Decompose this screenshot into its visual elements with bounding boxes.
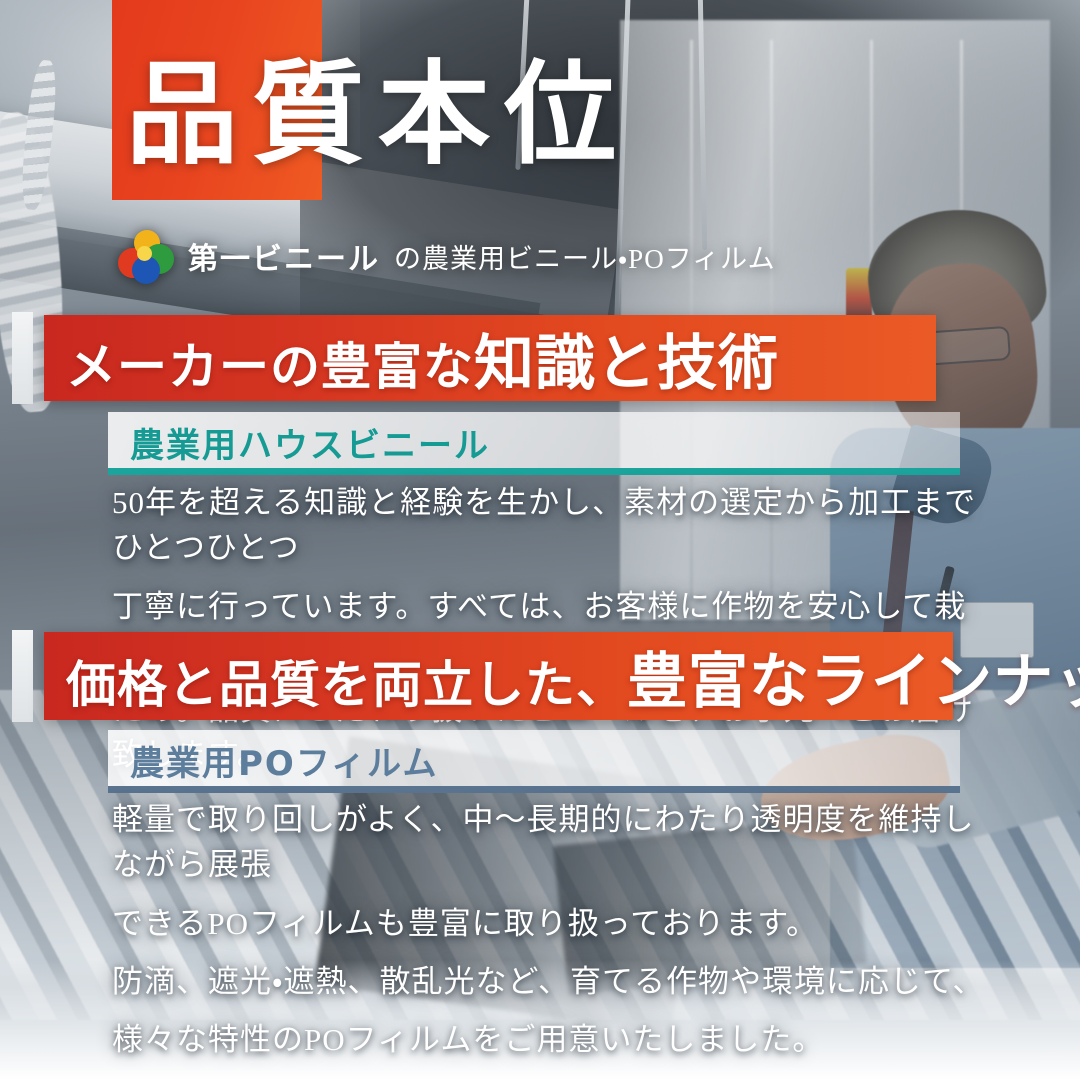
body-line: できるPOフィルムも豊富に取り扱っております。	[112, 901, 992, 946]
subheading-2: 農業用POフィルム	[108, 730, 960, 790]
brand-tagline: の農業用ビニール・POフィルム	[394, 237, 776, 276]
banner-1-lead: メーカーの豊富な	[66, 327, 474, 399]
brand-name: 第一ビニール	[188, 234, 380, 278]
body-line: 様々な特性のPOフィルムをご用意いたしました。	[112, 1017, 992, 1062]
accent-bar-1	[12, 312, 33, 404]
body-line: 防滴、遮光・遮熱、散乱光など、育てる作物や環境に応じて、	[112, 959, 992, 1004]
subheading-1-label: 農業用ハウスビニール	[108, 418, 490, 467]
body-paragraph-2: 軽量で取り回しがよく、中～長期的にわたり透明度を維持しながら展張 できるPOフィ…	[112, 797, 992, 1075]
subheading-1: 農業用ハウスビニール	[108, 412, 960, 472]
body-line: 50年を超える知識と経験を生かし、素材の選定から加工までひとつひとつ	[112, 480, 992, 571]
accent-bar-2	[12, 630, 33, 722]
brand-line: 第一ビニール の農業用ビニール・POフィルム	[118, 228, 776, 284]
banner-2-lead: 価格と品質を両立した、	[66, 645, 627, 717]
subheading-1-rule	[108, 468, 960, 475]
body-line: 軽量で取り回しがよく、中～長期的にわたり透明度を維持しながら展張	[112, 797, 992, 888]
dai-ichi-vinyl-flower-logo-icon	[118, 228, 174, 284]
subheading-2-rule	[108, 786, 960, 793]
subheading-2-label: 農業用POフィルム	[108, 736, 438, 785]
banner-2-emphasis: 豊富なラインナップ	[627, 633, 1080, 720]
section-banner-2: 価格と品質を両立した、 豊富なラインナップ	[44, 632, 953, 720]
banner-1-emphasis: 知識と技術	[474, 315, 779, 402]
content-layer: 品質本位 第一ビニール の農業用ビニール・POフィルム メーカーの豊富な 知識と…	[0, 0, 1080, 1080]
section-banner-1: メーカーの豊富な 知識と技術	[44, 315, 936, 401]
promo-banner: 品質本位 第一ビニール の農業用ビニール・POフィルム メーカーの豊富な 知識と…	[0, 0, 1080, 1080]
page-title: 品質本位	[126, 56, 630, 177]
